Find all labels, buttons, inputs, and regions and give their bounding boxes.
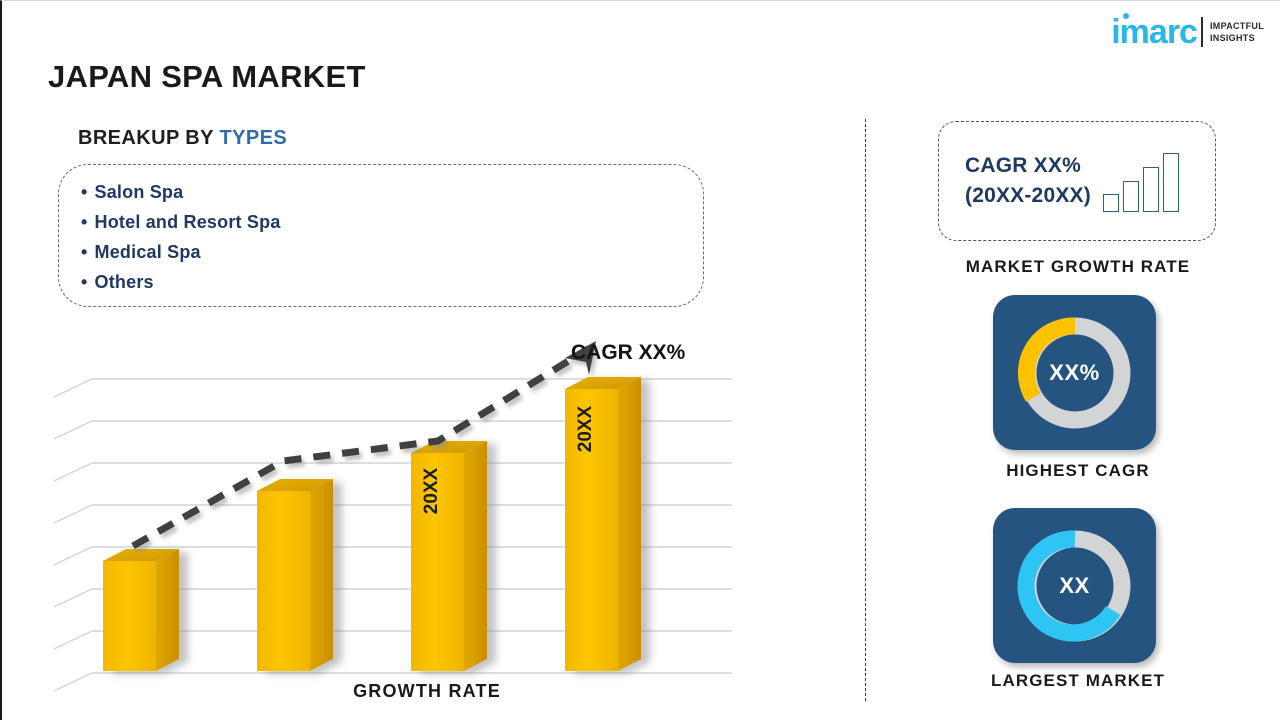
- slide-canvas: imarc IMPACTFUL INSIGHTS JAPAN SPA MARKE…: [0, 0, 1280, 720]
- logo-tagline-line2: INSIGHTS: [1210, 32, 1264, 44]
- bullet-icon: •: [81, 212, 88, 232]
- bar-chart-svg: 20XX 20XX: [48, 331, 808, 691]
- list-item: •Medical Spa: [81, 237, 703, 267]
- market-growth-rate-box: CAGR XX% (20XX-20XX): [938, 121, 1216, 241]
- largest-market-card: XX: [993, 508, 1156, 663]
- highest-cagr-label: HIGHEST CAGR: [928, 461, 1228, 481]
- list-item-label: Medical Spa: [95, 242, 201, 262]
- growth-box-line1: CAGR XX%: [965, 151, 1091, 181]
- largest-market-label: LARGEST MARKET: [928, 671, 1228, 691]
- page-title: JAPAN SPA MARKET: [48, 59, 366, 95]
- logo-tagline: IMPACTFUL INSIGHTS: [1210, 20, 1264, 44]
- growth-box-line2: (20XX-20XX): [965, 181, 1091, 211]
- breakup-types-box: •Salon Spa •Hotel and Resort Spa •Medica…: [58, 164, 704, 307]
- list-item: •Others: [81, 267, 703, 297]
- bullet-icon: •: [81, 272, 88, 292]
- logo-tagline-line1: IMPACTFUL: [1210, 20, 1264, 32]
- list-item: •Hotel and Resort Spa: [81, 207, 703, 237]
- bar-3-label: 20XX: [421, 467, 442, 514]
- bar-4-label: 20XX: [575, 405, 596, 452]
- breakup-heading: BREAKUP BY TYPES: [78, 127, 287, 150]
- list-item-label: Others: [95, 272, 154, 292]
- bar-3: 20XX: [411, 441, 487, 671]
- panel-divider: [865, 119, 866, 701]
- highest-cagr-donut: XX%: [1011, 309, 1139, 437]
- list-item-label: Hotel and Resort Spa: [95, 212, 281, 232]
- logo-divider: [1201, 17, 1203, 47]
- highest-cagr-card: XX%: [993, 295, 1156, 450]
- imarc-logo: imarc IMPACTFUL INSIGHTS: [1111, 15, 1264, 49]
- breakup-heading-prefix: BREAKUP BY: [78, 127, 219, 149]
- list-item: •Salon Spa: [81, 177, 703, 207]
- largest-market-donut: XX: [1011, 522, 1139, 650]
- bullet-icon: •: [81, 242, 88, 262]
- bullet-icon: •: [81, 182, 88, 202]
- growth-box-text: CAGR XX% (20XX-20XX): [965, 151, 1091, 211]
- bar-1: [103, 549, 179, 671]
- growth-bar-chart: 20XX 20XX: [48, 331, 808, 691]
- largest-market-value: XX: [1011, 522, 1139, 650]
- highest-cagr-value: XX%: [1011, 309, 1139, 437]
- logo-wordmark: imarc: [1111, 15, 1197, 49]
- bar-4: 20XX: [565, 377, 641, 671]
- cagr-callout: CAGR XX%: [571, 341, 685, 365]
- trend-line: [133, 341, 596, 546]
- bar-2: [257, 479, 333, 671]
- list-item-label: Salon Spa: [95, 182, 184, 202]
- bar-chart-icon: [1103, 150, 1179, 212]
- market-growth-rate-label: MARKET GROWTH RATE: [928, 257, 1228, 277]
- chart-x-axis-label: GROWTH RATE: [302, 681, 552, 702]
- breakup-heading-highlight: TYPES: [219, 127, 287, 149]
